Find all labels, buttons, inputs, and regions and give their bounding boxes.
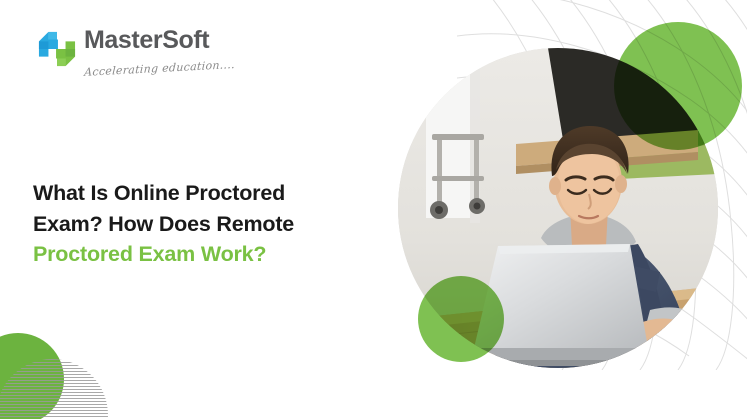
hero-visual [398,48,718,368]
brand-wordmark-group: MasterSoft Accelerating education.... [84,28,235,71]
brand-name: MasterSoft [84,28,209,53]
page-title: What Is Online Proctored Exam? How Does … [33,178,363,270]
brand-logo[interactable]: MasterSoft Accelerating education.... [38,28,235,71]
blog-banner: MasterSoft Accelerating education.... Wh… [0,0,747,419]
headline-line-2: Exam? How Does Remote [33,212,294,236]
pinwheel-arrows-logo-icon [38,30,76,68]
brand-tagline: Accelerating education.... [84,58,235,79]
headline-line-3-accent: Proctored Exam Work? [33,242,266,266]
headline-line-1: What Is Online Proctored [33,181,285,205]
student-photo [398,48,718,368]
